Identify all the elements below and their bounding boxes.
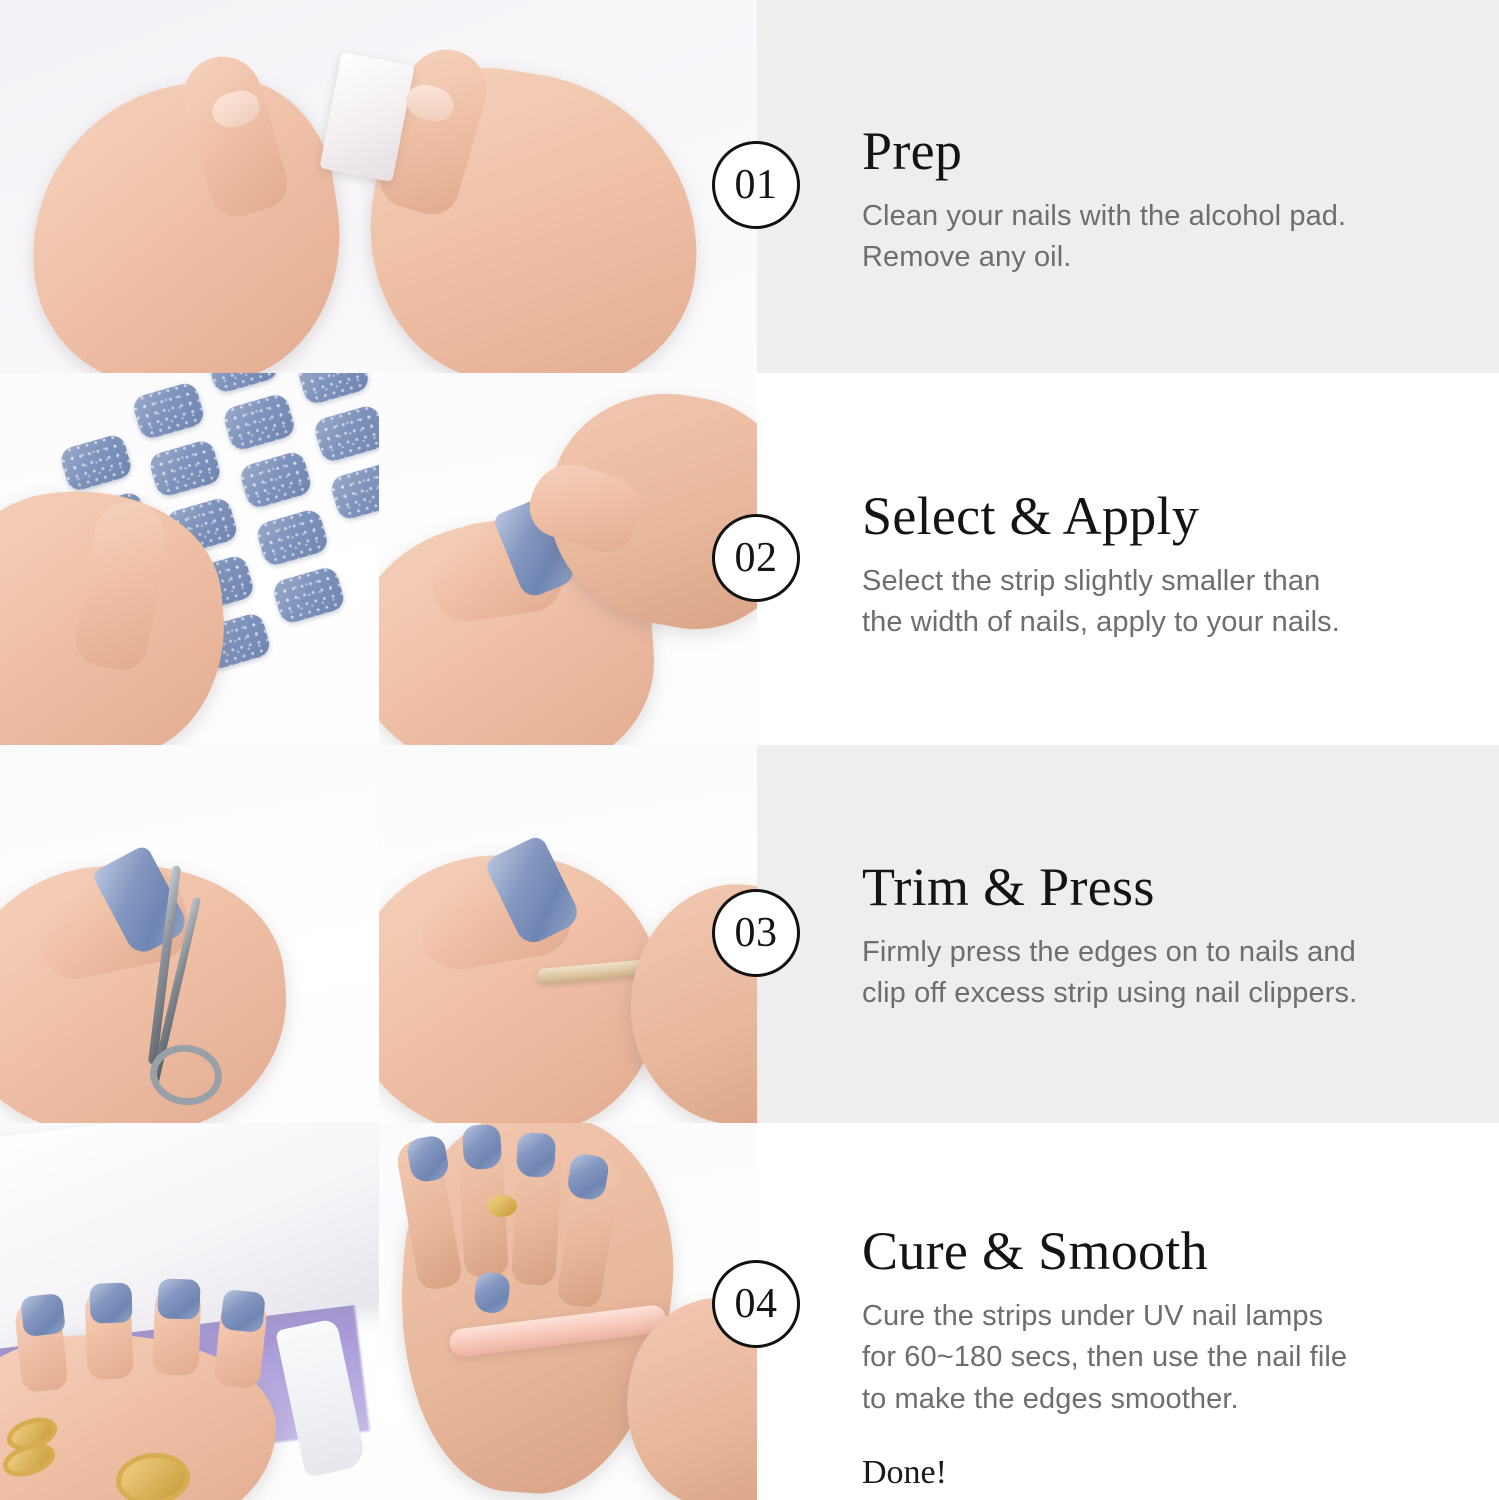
blue-nail-3	[515, 1132, 555, 1178]
nail-file-photo	[379, 1123, 758, 1500]
step-number-badge-4: 04	[712, 1260, 800, 1348]
press-edges-photo	[379, 745, 758, 1123]
step-number-4: 04	[735, 1280, 778, 1328]
step-4-body-line-3: to make the edges smoother.	[862, 1383, 1239, 1415]
step-3-title: Trim & Press	[862, 858, 1462, 916]
step-number-2: 02	[735, 534, 778, 582]
step-number-3: 03	[735, 909, 778, 957]
step-3-text: Trim & Press Firmly press the edges on t…	[862, 858, 1462, 1015]
step-1-body: Clean your nails with the alcohol pad. R…	[862, 196, 1462, 278]
step-2-text: Select & Apply Select the strip slightly…	[862, 487, 1462, 644]
step-2-body-line-2: the width of nails, apply to your nails.	[862, 606, 1340, 638]
blue-nail-2	[461, 1124, 501, 1170]
step-2-body-line-1: Select the strip slightly smaller than	[862, 565, 1320, 597]
step-1-title: Prep	[862, 122, 1462, 180]
step-number-badge-2: 02	[712, 514, 800, 602]
uv-lamp-photo	[0, 1123, 379, 1500]
step-3-body-line-1: Firmly press the edges on to nails and	[862, 936, 1356, 968]
step-3-media	[0, 745, 757, 1123]
blue-nail-3	[157, 1278, 200, 1319]
blue-nail-2	[89, 1282, 132, 1323]
step-2-body: Select the strip slightly smaller than t…	[862, 561, 1462, 643]
step-4-text: Cure & Smooth Cure the strips under UV n…	[862, 1222, 1462, 1492]
step-4-title: Cure & Smooth	[862, 1222, 1462, 1280]
apply-strip-photo	[379, 373, 758, 745]
step-2-title: Select & Apply	[862, 487, 1462, 545]
step-4-body: Cure the strips under UV nail lamps for …	[862, 1296, 1462, 1420]
strip-sheet-photo	[0, 373, 379, 745]
blue-nail-4	[220, 1289, 266, 1333]
step-4-body-line-1: Cure the strips under UV nail lamps	[862, 1300, 1323, 1332]
step-1-media	[0, 0, 757, 373]
step-1-body-line-1: Clean your nails with the alcohol pad.	[862, 200, 1346, 232]
step-3-body: Firmly press the edges on to nails and c…	[862, 932, 1462, 1014]
step-number-1: 01	[735, 161, 778, 209]
step-4-media	[0, 1123, 757, 1500]
clip-excess-photo	[0, 745, 379, 1123]
step-number-badge-1: 01	[712, 141, 800, 229]
step-4-closing: Done!	[862, 1454, 1462, 1492]
gold-knuckle-ring	[487, 1195, 517, 1217]
step-1-text: Prep Clean your nails with the alcohol p…	[862, 122, 1462, 279]
step-3-body-line-2: clip off excess strip using nail clipper…	[862, 977, 1357, 1009]
alcohol-pad-photo	[0, 0, 757, 373]
blue-nail-1	[20, 1293, 66, 1337]
step-4-body-line-2: for 60~180 secs, then use the nail file	[862, 1341, 1347, 1373]
step-number-badge-3: 03	[712, 889, 800, 977]
step-2-media	[0, 373, 757, 745]
instruction-sheet: 01 02 03 04 Prep Clean your nails with t…	[0, 0, 1499, 1500]
step-1-body-line-2: Remove any oil.	[862, 241, 1071, 273]
